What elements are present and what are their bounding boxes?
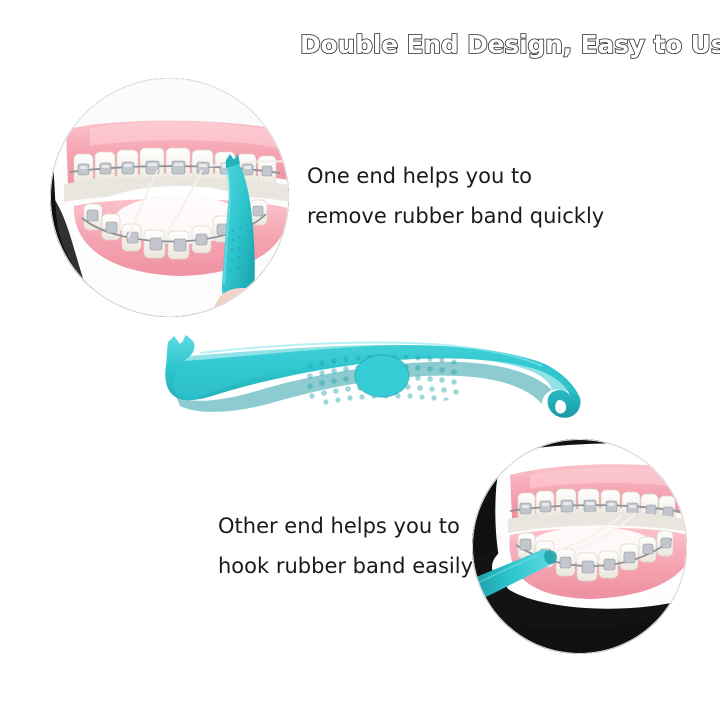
product-tool-illustration — [160, 322, 584, 438]
rubber-band-tool-svg — [160, 322, 584, 438]
page-title: Double End Design, Easy to Use — [300, 28, 712, 62]
feature-photo-hook — [472, 439, 687, 654]
dental-model-photo-top — [50, 78, 289, 317]
product-feature-image: Double End Design, Easy to Use — [0, 0, 720, 720]
caption-line-2: remove rubber band quickly — [307, 196, 604, 236]
caption-line-2: hook rubber band easily — [218, 546, 473, 586]
caption-line-1: Other end helps you to — [218, 506, 473, 546]
caption-line-1: One end helps you to — [307, 156, 604, 196]
feature-photo-remove — [50, 78, 289, 317]
feature-caption-remove: One end helps you to remove rubber band … — [307, 156, 604, 236]
feature-caption-hook: Other end helps you to hook rubber band … — [218, 506, 473, 586]
tool-hook-tip — [544, 550, 557, 564]
dental-model-photo-bottom — [472, 439, 687, 654]
